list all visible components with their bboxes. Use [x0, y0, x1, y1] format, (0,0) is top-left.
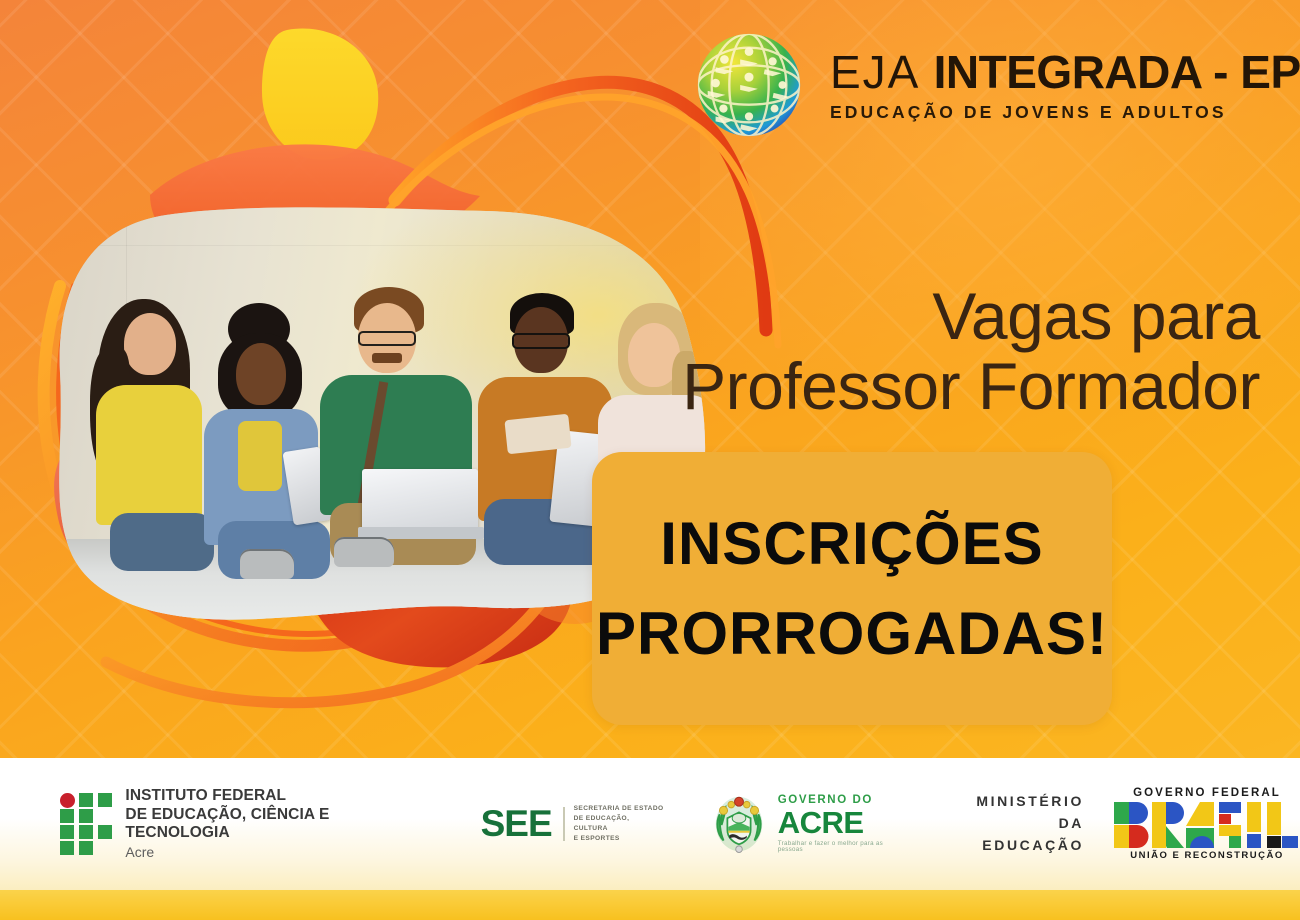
see-acronym: SEE — [481, 803, 552, 845]
acre-tagline: Trabalhar e fazer o melhor para as pesso… — [778, 841, 908, 853]
eja-logo: EJA INTEGRADA - EPT EDUCAÇÃO DE JOVENS E… — [690, 26, 1300, 144]
laptop — [362, 469, 478, 531]
footer-logo-brasil: GOVERNO FEDERAL — [1114, 787, 1300, 861]
logo-title-light: EJA — [830, 46, 920, 98]
callout-line-2: PRORROGADAS! — [596, 604, 1108, 664]
footer-logo-ifac: INSTITUTO FEDERAL DE EDUCAÇÃO, CIÊNCIA E… — [60, 787, 435, 860]
headline: Vagas para Professor Formador — [682, 282, 1260, 422]
see-sub-3: E ESPORTES — [574, 834, 664, 844]
ifac-line-2: DE EDUCAÇÃO, CIÊNCIA E TECNOLOGIA — [125, 806, 434, 843]
callout-line-1: INSCRIÇÕES — [660, 514, 1043, 574]
ifac-line-3: Acre — [125, 844, 434, 861]
mec-line-2: EDUCAÇÃO — [946, 835, 1084, 857]
paper — [504, 414, 571, 455]
glasses-icon — [358, 331, 416, 346]
brasil-wordmark-icon — [1114, 802, 1300, 848]
ifac-line-1: INSTITUTO FEDERAL — [125, 787, 434, 805]
brasil-bottom-label: UNIÃO E RECONSTRUÇÃO — [1130, 850, 1284, 861]
footer-bottom-strip — [0, 890, 1300, 920]
brasao-acre-icon — [708, 793, 770, 855]
glasses-icon-2 — [512, 333, 570, 349]
callout-box: INSCRIÇÕES PRORROGADAS! — [592, 452, 1112, 725]
footer-logo-mec: MINISTÉRIO DA EDUCAÇÃO — [946, 791, 1084, 856]
acre-line-2: ACRE — [778, 807, 908, 838]
student-2 — [196, 295, 332, 591]
mec-line-1: MINISTÉRIO DA — [946, 791, 1084, 834]
student-3 — [314, 281, 480, 593]
see-divider — [563, 807, 565, 841]
see-sub-2: DE EDUCAÇÃO, CULTURA — [574, 814, 664, 834]
logo-title-bold: INTEGRADA - EPT — [934, 46, 1300, 98]
headline-line-1: Vagas para — [682, 282, 1260, 352]
headline-line-2: Professor Formador — [682, 352, 1260, 422]
brasil-top-label: GOVERNO FEDERAL — [1133, 787, 1281, 799]
see-sub-1: SECRETARIA DE ESTADO — [574, 804, 664, 814]
logo-subtitle: EDUCAÇÃO DE JOVENS E ADULTOS — [830, 104, 1300, 122]
instituto-federal-grid-icon — [60, 793, 111, 855]
globe-people-icon — [690, 26, 808, 144]
footer-logo-see: SEE SECRETARIA DE ESTADO DE EDUCAÇÃO, CU… — [481, 803, 664, 845]
logo-title: EJA INTEGRADA - EPT — [830, 49, 1300, 95]
footer-logo-acre: GOVERNO DO ACRE Trabalhar e fazer o melh… — [708, 793, 908, 855]
poster-root: EJA INTEGRADA - EPT EDUCAÇÃO DE JOVENS E… — [0, 0, 1300, 920]
footer-logos-bar: INSTITUTO FEDERAL DE EDUCAÇÃO, CIÊNCIA E… — [0, 758, 1300, 890]
